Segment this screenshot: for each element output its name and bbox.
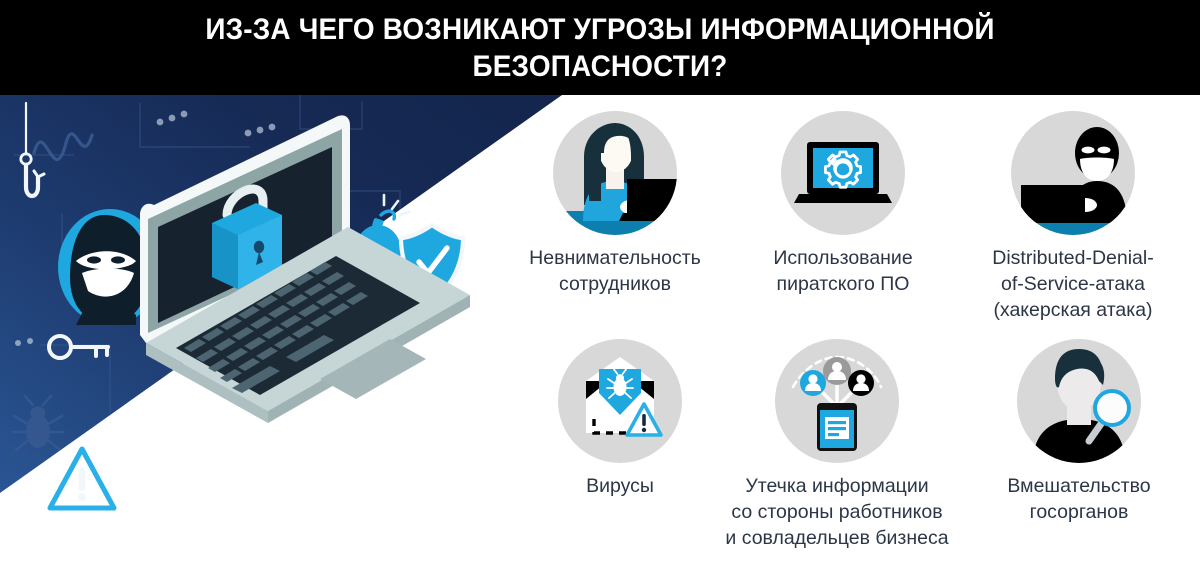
laptop-gear-icon [779, 109, 907, 237]
avatar-blue [800, 370, 826, 396]
card-label: Вмешательство госорганов [974, 473, 1184, 525]
avatar-black [848, 370, 874, 396]
threat-card-government-interference[interactable]: Вмешательство госорганов [974, 337, 1184, 525]
page-title: ИЗ-ЗА ЧЕГО ВОЗНИКАЮТ УГРОЗЫ ИНФОРМАЦИОНН… [79, 11, 1121, 85]
threat-card-viruses[interactable]: Вирусы [515, 337, 725, 499]
card-label: Использование пиратского ПО [738, 245, 948, 297]
woman-at-laptop-icon [551, 109, 679, 237]
card-label: Невнимательность сотрудников [510, 245, 720, 297]
threat-card-information-leak[interactable]: Утечка информации со стороны работников … [732, 337, 942, 551]
man-magnifier-icon [1015, 337, 1143, 465]
tablet-users-network-icon [773, 337, 901, 465]
masked-hacker-laptop-icon [1009, 109, 1137, 237]
threats-grid: Невнимательность сотрудников [500, 95, 1200, 565]
card-label: Утечка информации со стороны работников … [712, 473, 962, 551]
threat-card-pirated-software[interactable]: Использование пиратского ПО [738, 109, 948, 297]
envelope-bug-warning-icon [556, 337, 684, 465]
card-label: Вирусы [515, 473, 725, 499]
avatar-gray [823, 357, 851, 385]
title-bar: ИЗ-ЗА ЧЕГО ВОЗНИКАЮТ УГРОЗЫ ИНФОРМАЦИОНН… [0, 0, 1200, 95]
card-label: Distributed-Denial- of-Service-атака (ха… [957, 245, 1189, 323]
infographic-root: ИЗ-ЗА ЧЕГО ВОЗНИКАЮТ УГРОЗЫ ИНФОРМАЦИОНН… [0, 0, 1200, 565]
threat-card-ddos-attack[interactable]: Distributed-Denial- of-Service-атака (ха… [968, 109, 1178, 323]
threat-card-inattentive-employees[interactable]: Невнимательность сотрудников [510, 109, 720, 297]
